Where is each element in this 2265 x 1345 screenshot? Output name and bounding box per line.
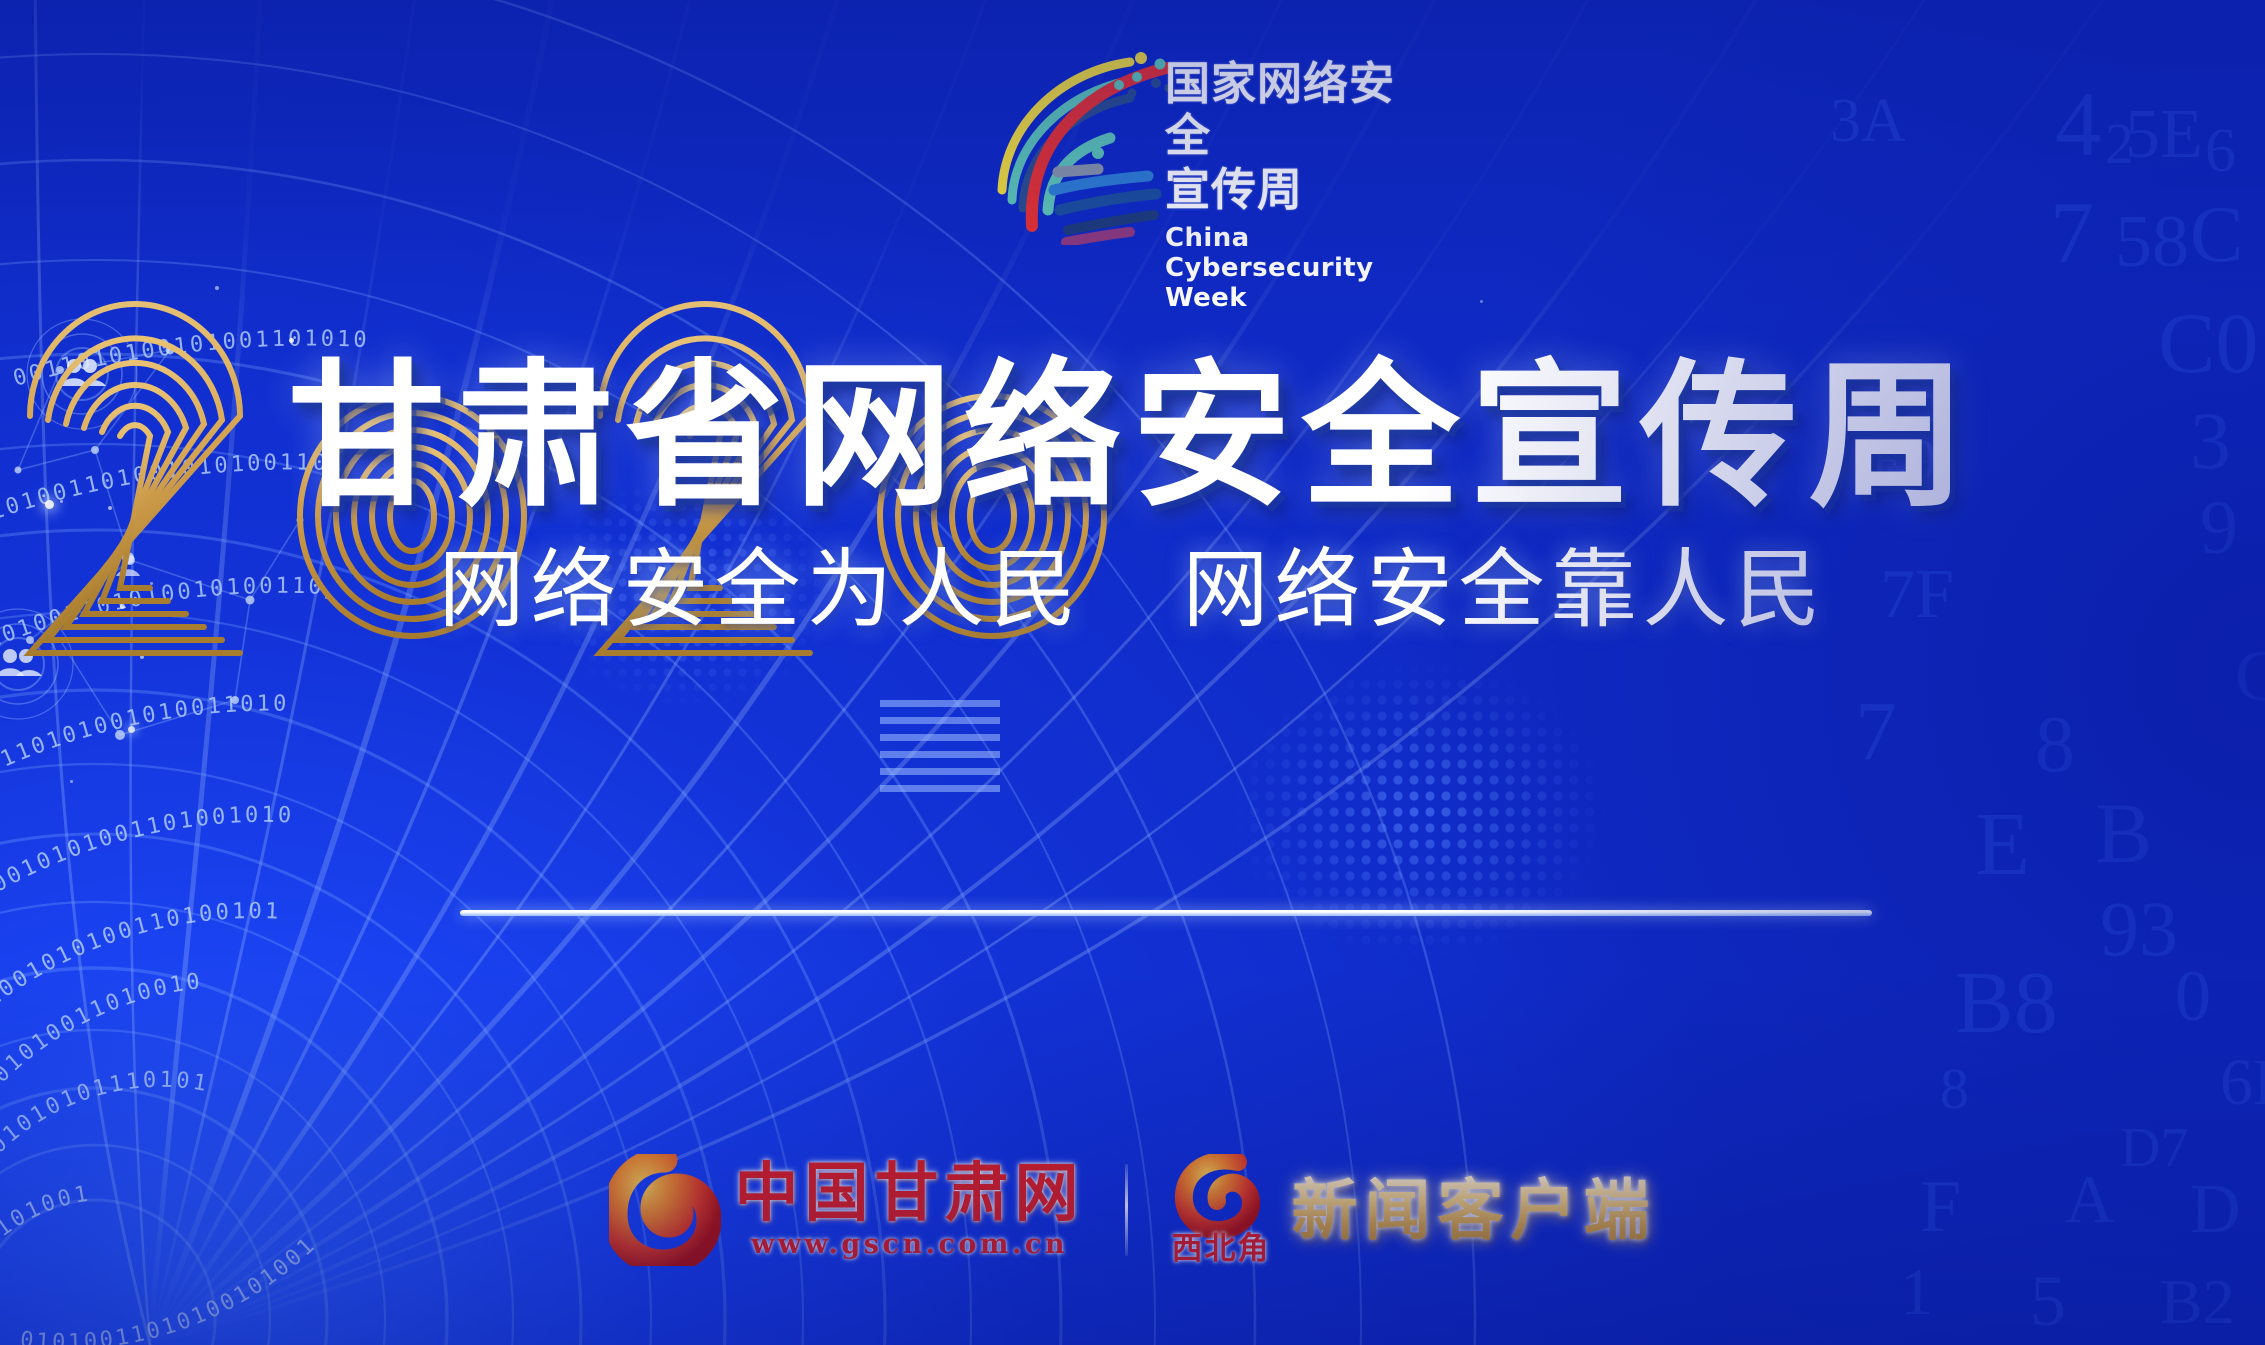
stripe-block-decoration xyxy=(880,700,1000,830)
hex-char: 0 xyxy=(2175,960,2211,1032)
gscn-url: www.gscn.com.cn xyxy=(751,1229,1068,1260)
divider-line xyxy=(460,910,1872,916)
poster-canvas: 10100101010011010010 0101001010100110100… xyxy=(0,0,2265,1345)
hex-char: 4 xyxy=(2055,78,2101,170)
logo-separator xyxy=(1125,1164,1128,1256)
hex-char: 3A xyxy=(1830,90,1906,152)
page-title: 甘肃省网络安全宣传周 xyxy=(0,352,2265,522)
hex-char: 6 xyxy=(2205,120,2236,182)
ccw-swoosh-icon xyxy=(980,50,1170,245)
china-cybersecurity-week-logo: 国家网络安全 宣传周 China Cybersecurity Week xyxy=(980,50,1420,245)
hex-char: 93 xyxy=(2100,890,2178,968)
xibeijiao-name: 新闻客户端 xyxy=(1292,1173,1657,1247)
hex-char: C xyxy=(2190,195,2243,275)
ccw-subtitle-en: China Cybersecurity Week xyxy=(1165,223,1435,313)
gscn-teardrop-icon xyxy=(609,1154,721,1266)
hex-char: 8 xyxy=(2035,705,2075,785)
footer-logos: 中国甘肃网 www.gscn.com.cn xyxy=(0,1145,2265,1275)
hex-char: 5E xyxy=(2125,100,2203,170)
binary-stream: 10100101010011010010 xyxy=(0,969,204,1165)
ccw-title-line1: 国家网络安全 xyxy=(1165,58,1435,162)
xibeijiao-logo[interactable]: 西北角 新闻客户端 xyxy=(1168,1154,1657,1266)
hex-char: B xyxy=(2095,790,2152,876)
binary-stream: 0101001010100110100101 xyxy=(0,899,282,1044)
gscn-name: 中国甘肃网 xyxy=(735,1161,1085,1227)
hex-char: C4 xyxy=(2235,640,2265,712)
ccw-title-line2: 宣传周 xyxy=(1165,164,1435,216)
gscn-text: 中国甘肃网 www.gscn.com.cn xyxy=(735,1161,1085,1260)
xibeijiao-mark: 西北角 xyxy=(1168,1154,1274,1266)
page-subtitle: 网络安全为人民 网络安全靠人民 xyxy=(0,540,2265,640)
hex-char: 7 xyxy=(1855,690,1897,774)
hex-char: 2 xyxy=(2105,115,2134,173)
xibeijiao-seal-text: 西北角 xyxy=(1172,1223,1271,1268)
hex-char: B8 xyxy=(1955,960,2058,1048)
binary-stream: 101001010100110100101011 xyxy=(0,0,92,1333)
hex-char: 6B xyxy=(2220,1050,2265,1116)
hex-char: B2 xyxy=(2160,1270,2235,1334)
hex-char: 7 xyxy=(2050,190,2094,278)
hex-char: 5 xyxy=(2030,1265,2066,1337)
hex-char: 58 xyxy=(2115,205,2189,279)
people-icon xyxy=(0,649,42,676)
binary-stream: 00110101001010011010 xyxy=(0,692,290,787)
hex-char: 8 xyxy=(1940,1060,1969,1118)
binary-stream: 1010010101001101001010 xyxy=(0,803,295,924)
hex-char: E xyxy=(1975,800,2030,890)
gscn-logo[interactable]: 中国甘肃网 www.gscn.com.cn xyxy=(609,1154,1085,1266)
ccw-logo-text: 国家网络安全 宣传周 China Cybersecurity Week xyxy=(1165,58,1435,313)
